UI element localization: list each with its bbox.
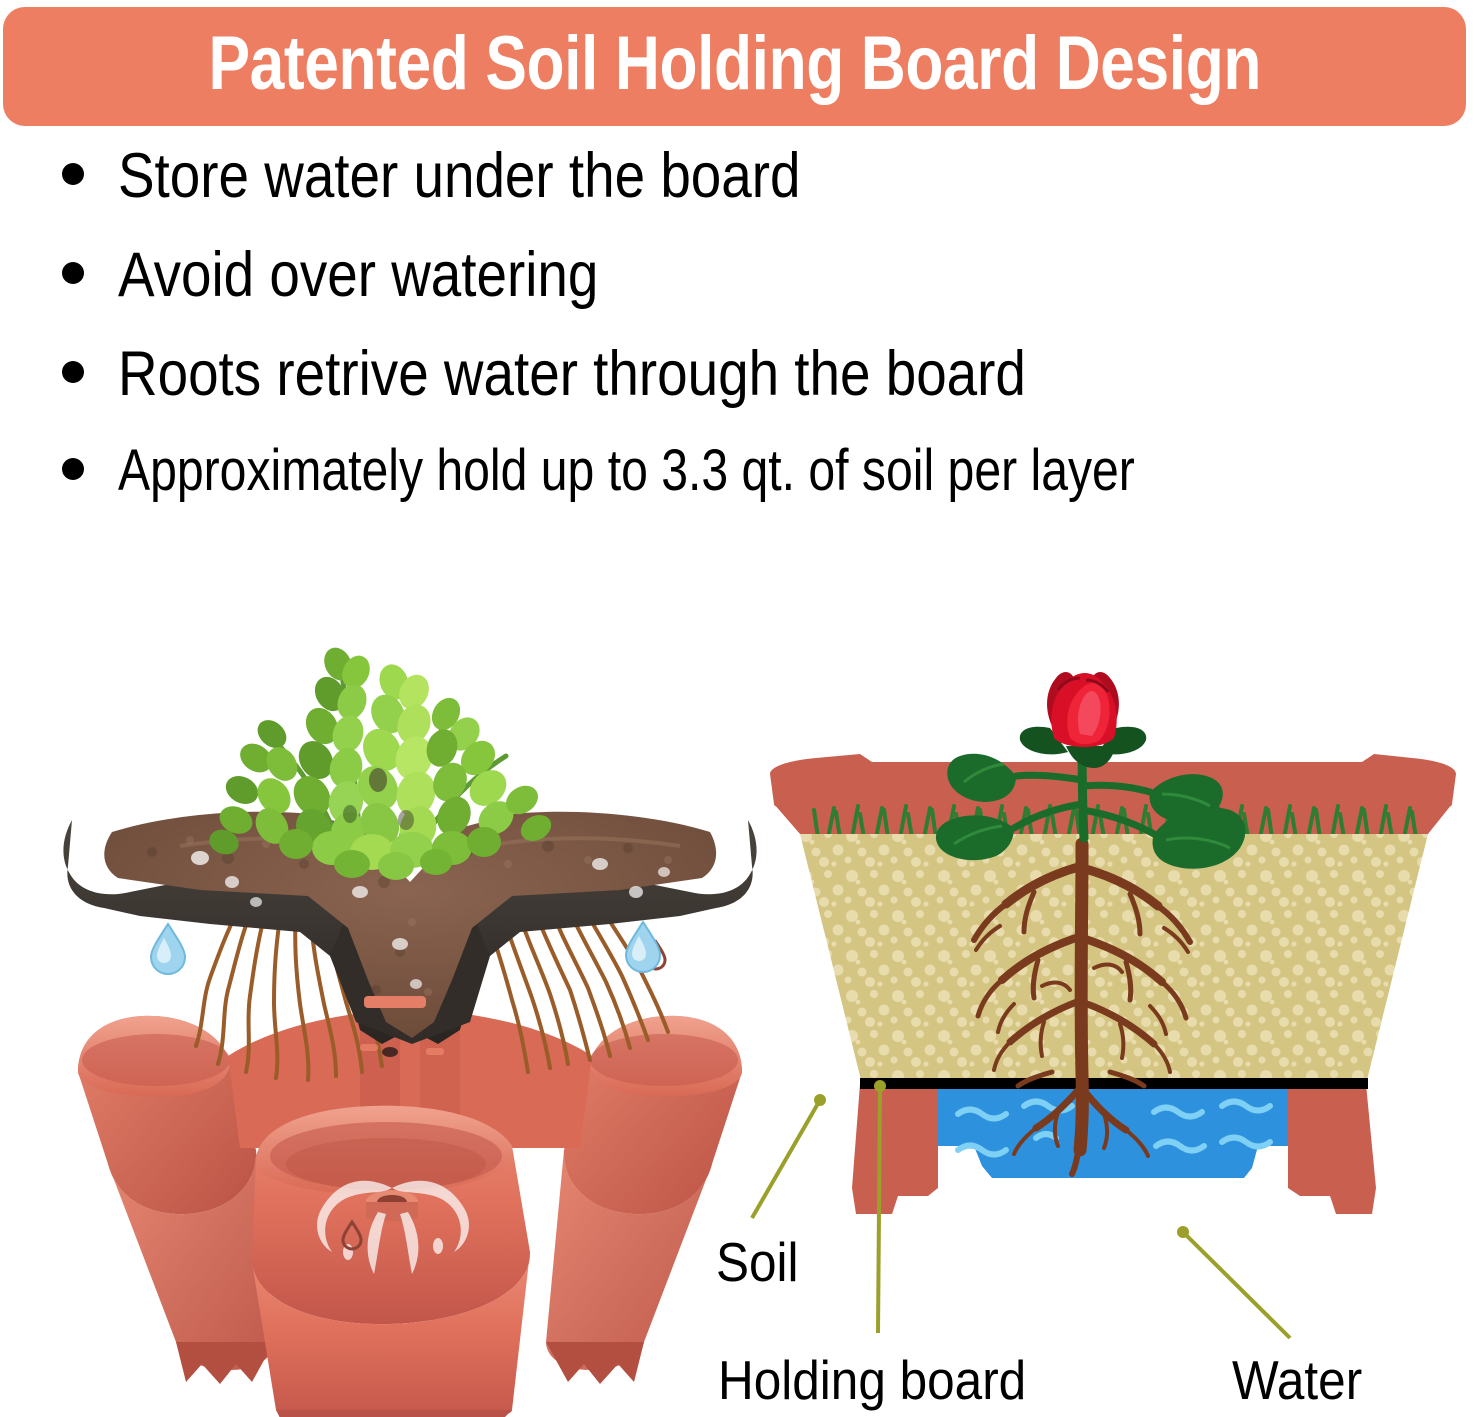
bullet-dot-icon bbox=[62, 163, 84, 185]
holding-board-line bbox=[860, 1078, 1368, 1089]
list-item: Roots retrive water through the board bbox=[0, 338, 1474, 437]
page-title: Patented Soil Holding Board Design bbox=[208, 26, 1261, 108]
callout-label-water: Water bbox=[1232, 1348, 1362, 1412]
header-banner: Patented Soil Holding Board Design bbox=[3, 7, 1466, 126]
list-item-label: Store water under the board bbox=[118, 140, 801, 212]
planter-lobe-front bbox=[252, 1106, 530, 1417]
list-item: Avoid over watering bbox=[0, 239, 1474, 338]
callout-label-holding-board: Holding board bbox=[718, 1348, 1026, 1412]
water-droplet-icon bbox=[626, 922, 660, 972]
list-item-label: Roots retrive water through the board bbox=[118, 338, 1026, 410]
pot-cross-section-diagram bbox=[752, 668, 1474, 1288]
stacked-planter-photo bbox=[60, 552, 760, 1417]
list-item-label: Avoid over watering bbox=[118, 239, 598, 311]
cross-section-illustration bbox=[752, 668, 1474, 1288]
feature-list: Store water under the board Avoid over w… bbox=[0, 140, 1474, 521]
callout-label-soil: Soil bbox=[716, 1230, 799, 1294]
bullet-dot-icon bbox=[62, 458, 84, 480]
list-item: Store water under the board bbox=[0, 140, 1474, 239]
bullet-dot-icon bbox=[62, 361, 84, 383]
soil-layer bbox=[800, 834, 1428, 1084]
rose-bloom bbox=[1047, 672, 1119, 747]
list-item: Approximately hold up to 3.3 qt. of soil… bbox=[0, 437, 1474, 521]
list-item-label: Approximately hold up to 3.3 qt. of soil… bbox=[118, 437, 1135, 504]
water-reservoir bbox=[938, 1088, 1288, 1178]
water-droplet-icon bbox=[151, 924, 185, 974]
planter-illustration bbox=[60, 552, 760, 1417]
bullet-dot-icon bbox=[62, 262, 84, 284]
